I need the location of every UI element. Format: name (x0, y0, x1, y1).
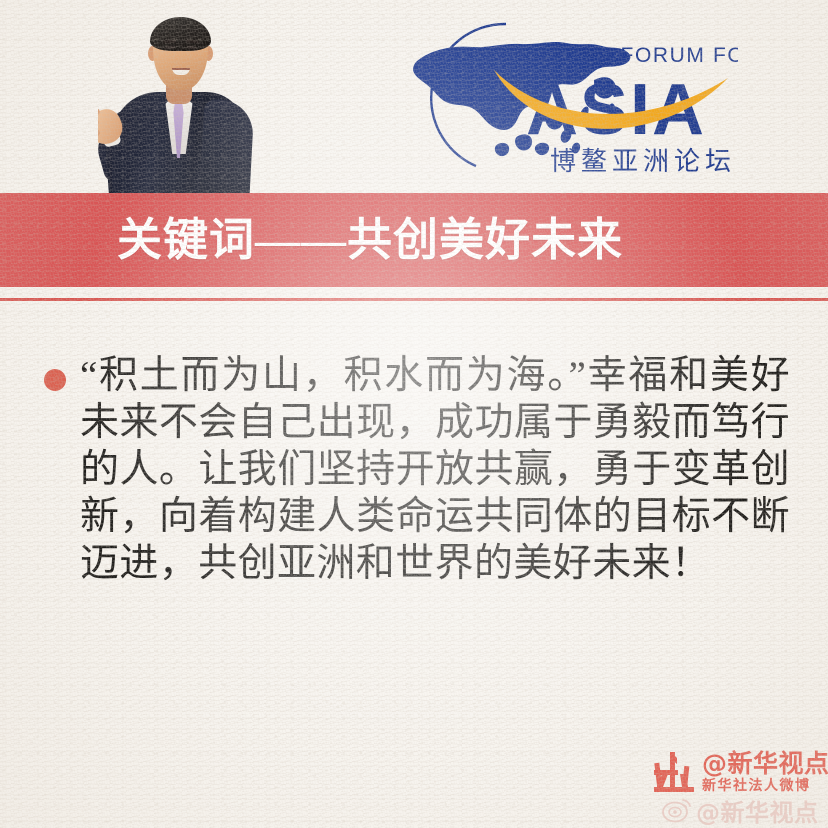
xinhua-badge[interactable]: @新华视点 新华社法人微博 (650, 748, 828, 796)
weibo-icon (662, 797, 692, 823)
bullet-dot-icon (44, 369, 66, 391)
xinhua-handle: @新华视点 (702, 751, 828, 776)
portrait-shoulder-right (200, 99, 255, 195)
quote-text: “积土而为山，积水而为海。”幸福和美好未来不会自己出现，成功属于勇毅而笃行的人。… (80, 352, 790, 587)
quote-block: “积土而为山，积水而为海。”幸福和美好未来不会自己出现，成功属于勇毅而笃行的人。… (0, 352, 828, 587)
speaker-portrait (98, 0, 258, 195)
page-title: 关键词——共创美好未来 (117, 218, 623, 263)
xinhua-badge-text: @新华视点 新华社法人微博 (702, 751, 828, 793)
title-banner: 关键词——共创美好未来 (0, 193, 828, 287)
xinhua-subtitle: 新华社法人微博 (702, 779, 828, 793)
logo-tagline-en: BOAO FORUM FOR (546, 44, 738, 67)
logo-name-zh: 博鳌亚洲论坛 (550, 147, 736, 177)
xinhua-logo-icon (650, 750, 698, 794)
header-zone: BOAO FORUM FOR ASIA 博鳌亚洲论坛 (0, 0, 828, 195)
portrait-hair (150, 17, 211, 51)
weibo-watermark: @新华视点 (662, 794, 828, 826)
poster-canvas: BOAO FORUM FOR ASIA 博鳌亚洲论坛 关键词——共创美好未来 “… (0, 0, 828, 828)
divider-rule (0, 298, 828, 301)
boao-forum-logo: BOAO FORUM FOR ASIA 博鳌亚洲论坛 (398, 18, 738, 178)
portrait-eye-right (187, 46, 197, 50)
weibo-watermark-handle: @新华视点 (696, 793, 819, 828)
